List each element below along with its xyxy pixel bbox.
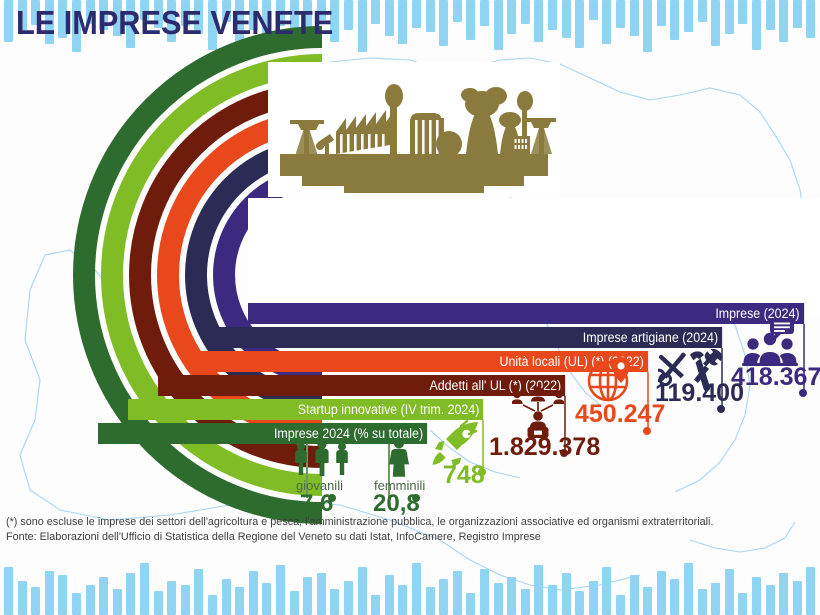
metric-bar-imprese: Imprese (2024) [248, 303, 805, 324]
globe-location-pin-icon [586, 355, 636, 405]
metric-value-imprese: 418.367 [731, 363, 820, 392]
bar-end-tick [722, 327, 724, 348]
bar-end-tick [565, 375, 567, 396]
footnote: (*) sono escluse le imprese dei settori … [6, 515, 806, 544]
page-title: LE IMPRESE VENETE [16, 4, 333, 42]
metric-value-addetti-ul: 1.829.378 [489, 433, 600, 462]
footnote-line-1: (*) sono escluse le imprese dei settori … [6, 515, 806, 530]
metric-label-startup-innovative: Startup innovative (IV trim. 2024) [297, 402, 479, 417]
organization-chart-people-icon [512, 386, 564, 438]
people-group-speech-bubble-icon [742, 318, 798, 366]
value-femminili: 20,8 [373, 490, 420, 518]
metric-bar-imprese-percentuali: Imprese 2024 (% su totale) [98, 423, 428, 444]
value-giovanili: 7,6 [300, 490, 333, 518]
metric-bar-startup-innovative: Startup innovative (IV trim. 2024) [128, 399, 484, 420]
three-young-people-icon [293, 437, 351, 477]
metric-bar-imprese-artigiane: Imprese artigiane (2024) [218, 327, 723, 348]
bar-end-tick [648, 351, 650, 372]
label-backdrop-panel [248, 198, 820, 316]
metric-value-startup-innovative: 748 [443, 461, 485, 490]
industrial-factory-silhouette-icon [268, 62, 560, 197]
infographic-canvas: LE IMPRESE VENETE [0, 0, 820, 615]
bar-end-tick [427, 423, 429, 444]
footnote-line-2: Fonte: Elaborazioni dell'Ufficio di Stat… [6, 530, 806, 545]
bar-end-tick [483, 399, 485, 420]
female-person-icon [385, 437, 413, 477]
metric-bar-addetti-ul: Addetti all' UL (*) (2022) [158, 375, 566, 396]
factory-illustration-panel [268, 62, 560, 197]
metric-bar-unita-locali: Unità locali (UL) (*) (2022) [188, 351, 649, 372]
metric-value-imprese-artigiane: 119.400 [655, 379, 744, 408]
metric-label-imprese-artigiane: Imprese artigiane (2024) [583, 330, 718, 345]
bar-end-tick [804, 303, 806, 324]
metric-value-unita-locali: 450.247 [575, 400, 665, 429]
